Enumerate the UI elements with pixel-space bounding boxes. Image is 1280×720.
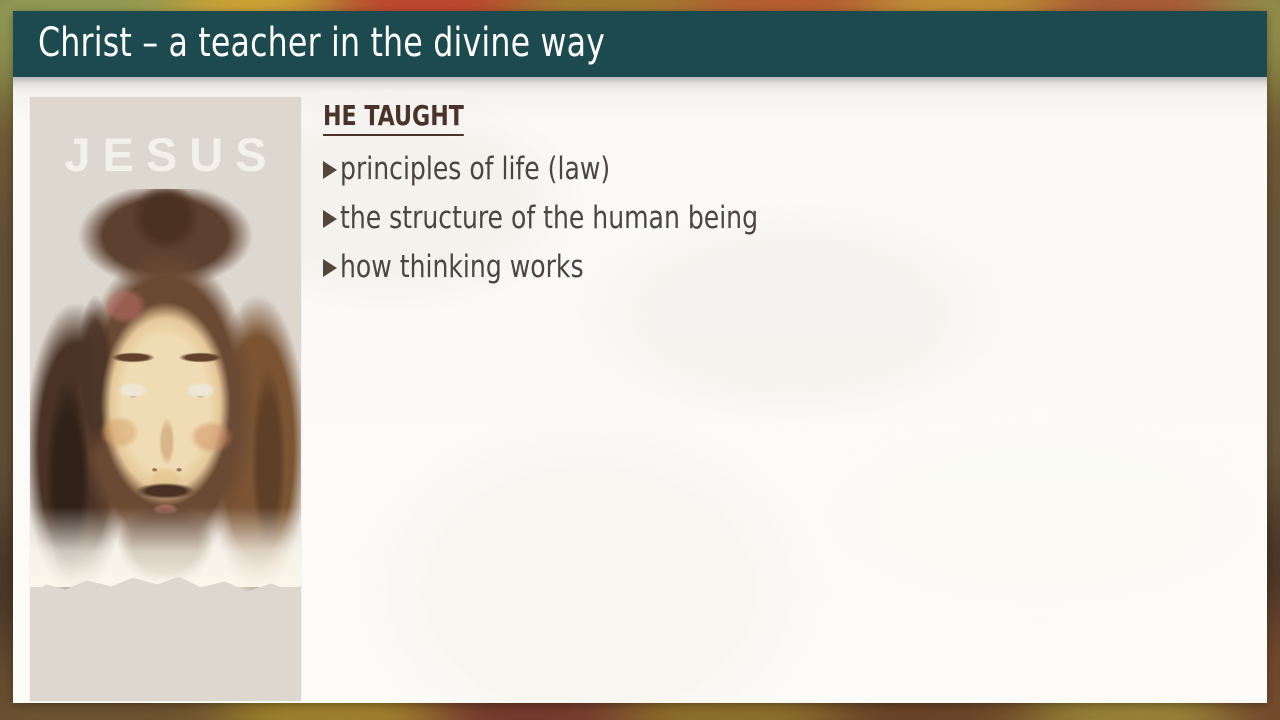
jesus-watercolor-portrait xyxy=(30,189,301,657)
list-item-label: how thinking works xyxy=(340,243,584,292)
teachings-list: principles of life (law) the structure o… xyxy=(323,145,1243,292)
list-item: how thinking works xyxy=(323,243,1243,292)
list-item-label: principles of life (law) xyxy=(340,145,610,194)
list-item: the structure of the human being xyxy=(323,194,1243,243)
slide-body: JESUS HE TAUGHT principles of life (law) xyxy=(13,77,1267,703)
page-title: Christ – a teacher in the divine way xyxy=(38,20,605,66)
he-taught-heading: HE TAUGHT xyxy=(323,99,464,136)
triangle-right-icon xyxy=(323,161,337,179)
list-item: principles of life (law) xyxy=(323,145,1243,194)
slide-surface: JESUS HE TAUGHT principles of life (law) xyxy=(13,11,1267,703)
list-item-label: the structure of the human being xyxy=(340,194,758,243)
content-column: HE TAUGHT principles of life (law) the s… xyxy=(323,99,1243,292)
jesus-portrait-panel: JESUS xyxy=(30,97,301,701)
triangle-right-icon xyxy=(323,210,337,228)
slide-title-bar: Christ – a teacher in the divine way xyxy=(13,11,1267,77)
portrait-fade-wash xyxy=(30,507,301,587)
triangle-right-icon xyxy=(323,259,337,277)
jesus-wordmark: JESUS xyxy=(30,127,301,182)
